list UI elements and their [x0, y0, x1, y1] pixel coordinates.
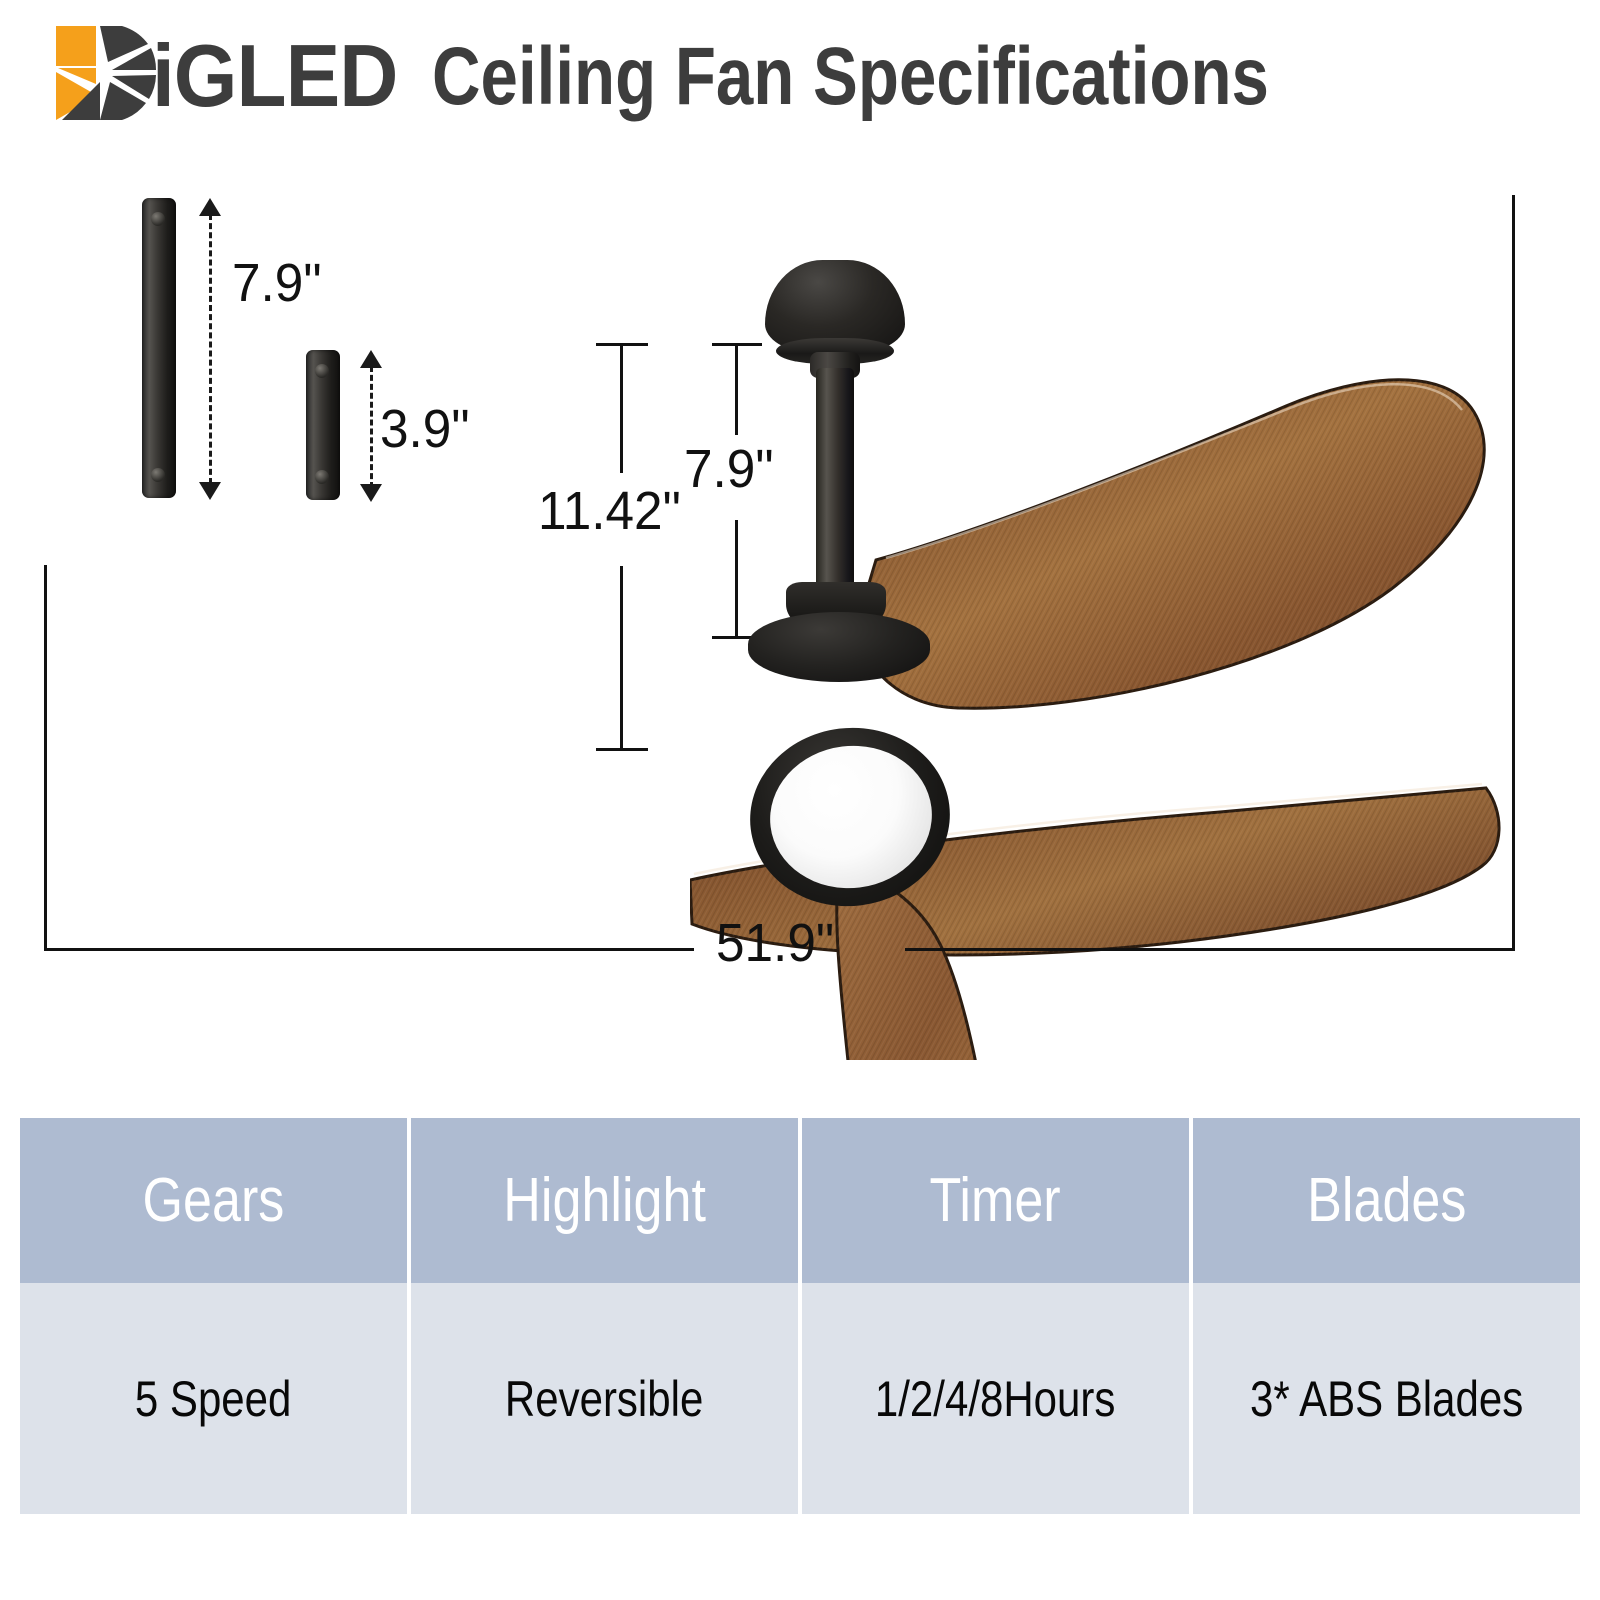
overall-drop-dimline-upper	[620, 343, 623, 473]
spec-value-label: Reversible	[505, 1370, 703, 1428]
spec-column-blades: Blades 3* ABS Blades	[1193, 1118, 1580, 1514]
brand-logo: iGLED	[52, 22, 412, 127]
page-header: iGLED Ceiling Fan Specifications	[0, 0, 1600, 160]
blade-span-dimline-right	[905, 948, 1515, 951]
blade-span-extension-left	[44, 565, 47, 950]
spec-header-label: Gears	[143, 1165, 285, 1236]
long-downrod	[142, 198, 176, 498]
short-downrod-arrow-bottom	[360, 484, 382, 502]
spec-value-cell: 3* ABS Blades	[1193, 1283, 1580, 1514]
spec-value-label: 1/2/4/8Hours	[875, 1370, 1115, 1428]
spec-value-label: 3* ABS Blades	[1250, 1370, 1523, 1428]
long-downrod-dimline	[209, 214, 212, 484]
overall-drop-tick-bottom	[596, 748, 648, 751]
spec-value-cell: 1/2/4/8Hours	[802, 1283, 1189, 1514]
short-downrod-dimline	[370, 366, 373, 488]
spec-column-highlight: Highlight Reversible	[411, 1118, 798, 1514]
spec-header-label: Highlight	[503, 1165, 706, 1236]
spec-value-label: 5 Speed	[135, 1370, 291, 1428]
brand-logo-text: iGLED	[152, 28, 397, 124]
installed-downrod	[816, 368, 854, 598]
spec-header-cell: Gears	[20, 1118, 407, 1283]
spec-header-label: Blades	[1307, 1165, 1466, 1236]
spec-header-cell: Timer	[802, 1118, 1189, 1283]
motor-housing	[748, 612, 930, 682]
spec-value-cell: Reversible	[411, 1283, 798, 1514]
spec-value-cell: 5 Speed	[20, 1283, 407, 1514]
spec-header-cell: Highlight	[411, 1118, 798, 1283]
spec-header-label: Timer	[930, 1165, 1061, 1236]
digled-aperture-logo-icon	[52, 22, 160, 124]
product-dimension-diagram: 7.9" 3.9" 11.42" 7.9"	[0, 160, 1600, 1040]
page-title: Ceiling Fan Specifications	[432, 28, 1269, 126]
spec-header-cell: Blades	[1193, 1118, 1580, 1283]
long-downrod-dimension-label: 7.9"	[232, 252, 322, 314]
long-downrod-arrow-bottom	[199, 482, 221, 500]
specification-table: Gears 5 Speed Highlight Reversible Timer…	[20, 1118, 1580, 1514]
blade-span-dimension-label: 51.9"	[716, 912, 834, 974]
spec-column-timer: Timer 1/2/4/8Hours	[802, 1118, 1189, 1514]
blade-span-dimline-left	[44, 948, 694, 951]
spec-sheet-page: iGLED Ceiling Fan Specifications 7.9" 3.…	[0, 0, 1600, 1600]
overall-drop-dimension-label: 11.42"	[538, 480, 681, 542]
short-downrod-dimension-label: 3.9"	[380, 398, 470, 460]
short-downrod	[306, 350, 340, 500]
spec-column-gears: Gears 5 Speed	[20, 1118, 407, 1514]
overall-drop-dimline-lower	[620, 566, 623, 750]
blade-span-extension-right	[1512, 195, 1515, 950]
